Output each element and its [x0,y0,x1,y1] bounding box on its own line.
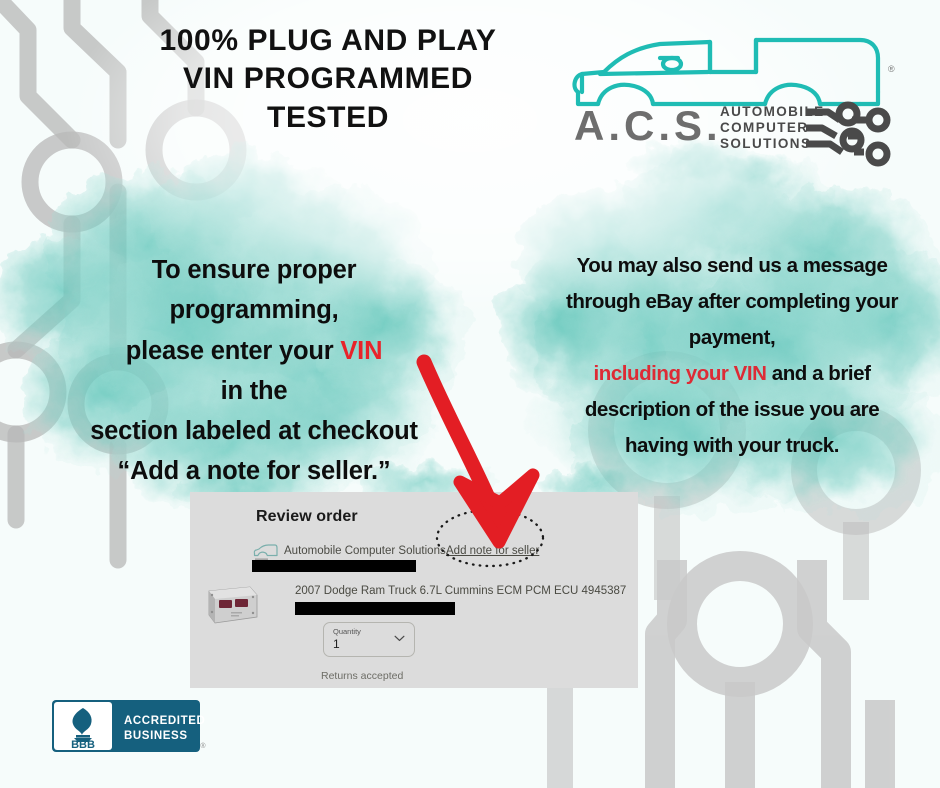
logo-word-2: COMPUTER [720,120,808,135]
bbb-line-2: BUSINESS [124,730,188,742]
bbb-acronym: BBB [71,739,95,751]
quantity-selector[interactable]: Quantity 1 [323,622,415,657]
bbb-line-1: ACCREDITED [124,715,205,727]
chevron-down-icon [394,635,405,642]
quantity-label: Quantity [333,627,361,636]
ecm-product-thumbnail [202,580,262,630]
left-line-2: programming, [28,290,480,330]
right-line-3: payment, [536,320,928,356]
right-line-2: through eBay after completing your [536,284,928,320]
logo-acronym: A.C.S. [574,102,722,149]
right-line-4-rest: and a brief [767,362,871,385]
right-line-5: description of the issue you are [536,392,928,428]
registered-mark: ® [888,64,895,74]
right-line-4: including your VIN and a brief [536,356,928,392]
redaction-bar-price [295,602,455,615]
bbb-accredited-business-badge: BBB ACCREDITED BUSINESS ® [52,700,207,752]
headline: 100% PLUG AND PLAY VIN PROGRAMMED TESTED [78,22,578,137]
left-line-1: To ensure proper [28,250,480,290]
logo-word-3: SOLUTIONS [720,136,811,151]
headline-line-3: TESTED [78,99,578,137]
redaction-bar-seller [252,560,416,572]
quantity-value: 1 [333,637,340,651]
headline-line-2: VIN PROGRAMMED [78,60,578,98]
right-instruction-text: You may also send us a message through e… [536,248,928,464]
vin-highlight: VIN [340,337,382,365]
bbb-registered-mark: ® [200,742,206,750]
red-pointer-arrow [400,340,590,570]
headline-line-1: 100% PLUG AND PLAY [78,22,578,60]
vin-highlight-2: including your VIN [594,362,767,385]
truck-outline-icon [575,40,878,104]
right-line-6: having with your truck. [536,428,928,464]
poster-canvas: 100% PLUG AND PLAY VIN PROGRAMMED TESTED [0,0,940,788]
review-order-heading: Review order [256,508,358,526]
right-line-1: You may also send us a message [536,248,928,284]
left-line-3-text: please enter your [126,337,341,365]
item-title: 2007 Dodge Ram Truck 6.7L Cummins ECM PC… [295,585,626,597]
returns-accepted-text: Returns accepted [321,670,403,682]
acs-logo: ® A.C.S. AUTOMOBILE COMPUTER SOLUTIONS [560,28,910,168]
